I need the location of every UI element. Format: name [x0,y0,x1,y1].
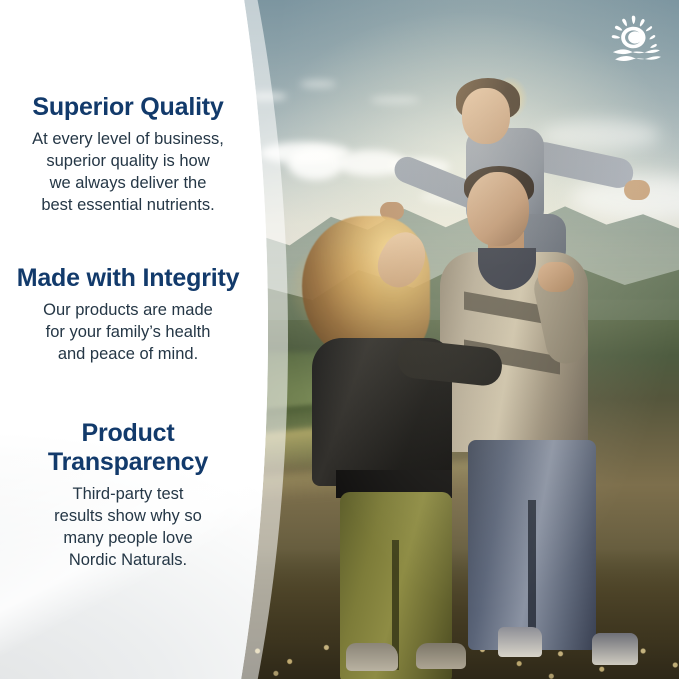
feature-body-line: Third-party test [0,483,256,505]
feature-heading: Made with Integrity [0,264,256,293]
feature-body: At every level of business, superior qua… [0,128,256,216]
feature-heading-line: Quality [140,93,223,121]
family-group [240,0,679,679]
mother-shoe [416,643,466,669]
feature-heading-line: Integrity [142,264,239,292]
sun-wave-logo-icon [607,14,663,66]
feature-body-line: many people love [0,527,256,549]
feature-body-line: superior quality is how [0,150,256,172]
feature-body-line: we always deliver the [0,172,256,194]
feature-body-line: At every level of business, [0,128,256,150]
feature-body-line: and peace of mind. [0,343,256,365]
feature-heading-line: Superior [32,93,133,121]
feature-heading-line: Transparency [48,448,208,476]
feature-heading-line: Product [81,419,174,447]
child-right-hand [624,180,650,200]
content-column: Superior Quality At every level of busin… [0,0,256,679]
family-outdoors-photo [240,0,679,679]
mother-shoe [346,643,398,671]
feature-body-line: Nordic Naturals. [0,549,256,571]
father-hand [538,262,574,292]
feature-heading: Product Transparency [0,419,256,477]
father-shoe [592,633,638,665]
feature-body: Third-party test results show why so man… [0,483,256,571]
feature-block-superior-quality: Superior Quality At every level of busin… [0,93,256,216]
promo-card: Superior Quality At every level of busin… [0,0,679,679]
feature-block-made-with-integrity: Made with Integrity Our products are mad… [0,264,256,365]
feature-body-line: for your family’s health [0,321,256,343]
feature-heading-line: Made with [17,264,136,292]
feature-body-line: results show why so [0,505,256,527]
feature-body-line: Our products are made [0,299,256,321]
feature-heading: Superior Quality [0,93,256,122]
feature-body-line: best essential nutrients. [0,194,256,216]
feature-block-product-transparency: Product Transparency Third-party test re… [0,419,256,571]
father-head [467,172,529,246]
father-shoe [498,627,542,657]
child-head [462,88,510,144]
feature-body: Our products are made for your family’s … [0,299,256,365]
